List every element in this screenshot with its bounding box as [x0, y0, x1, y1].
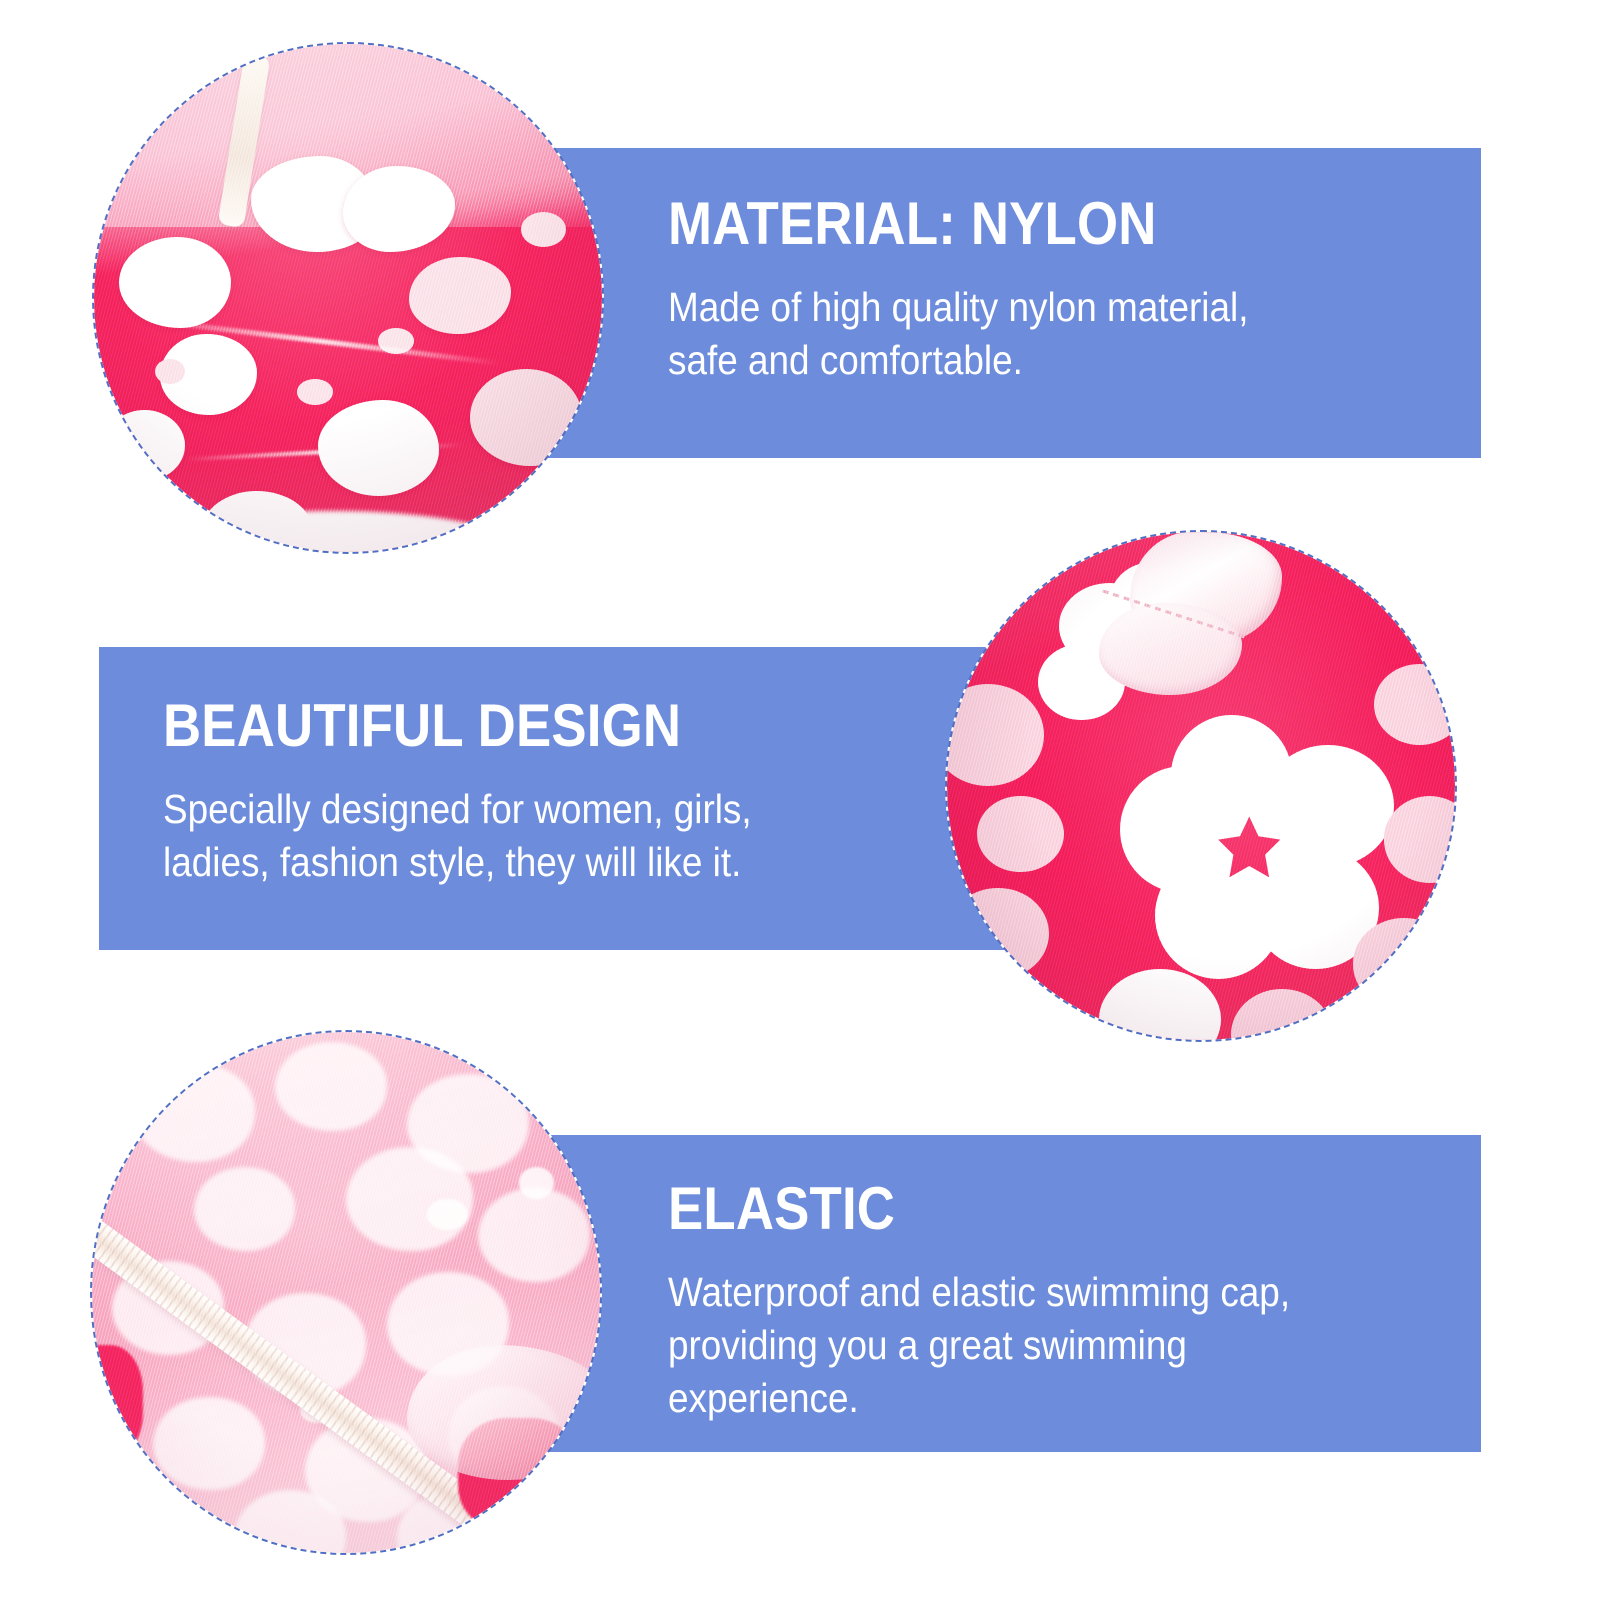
infographic-page: MATERIAL: NYLON Made of high quality nyl…	[0, 0, 1600, 1600]
photo-vignette	[947, 532, 1455, 1040]
feature-heading-elastic: ELASTIC	[668, 1179, 895, 1239]
feature-body-material: Made of high quality nylon material, saf…	[668, 281, 1248, 387]
feature-body-elastic: Waterproof and elastic swimming cap, pro…	[668, 1266, 1290, 1425]
product-photo-design	[945, 530, 1457, 1042]
product-photo-material	[92, 42, 604, 554]
feature-banner-material: MATERIAL: NYLON Made of high quality nyl…	[540, 148, 1481, 458]
photo-vignette	[94, 44, 602, 552]
feature-body-design: Specially designed for women, girls, lad…	[163, 783, 752, 889]
photo-vignette	[92, 1032, 600, 1553]
feature-heading-material: MATERIAL: NYLON	[668, 194, 1157, 254]
feature-heading-design: BEAUTIFUL DESIGN	[163, 696, 681, 756]
feature-banner-design: BEAUTIFUL DESIGN Specially designed for …	[99, 647, 1039, 950]
product-photo-elastic	[90, 1030, 602, 1555]
photo-inner-design	[947, 532, 1455, 1040]
feature-banner-elastic: ELASTIC Waterproof and elastic swimming …	[540, 1135, 1481, 1452]
photo-inner-elastic	[92, 1032, 600, 1553]
photo-inner-material	[94, 44, 602, 552]
